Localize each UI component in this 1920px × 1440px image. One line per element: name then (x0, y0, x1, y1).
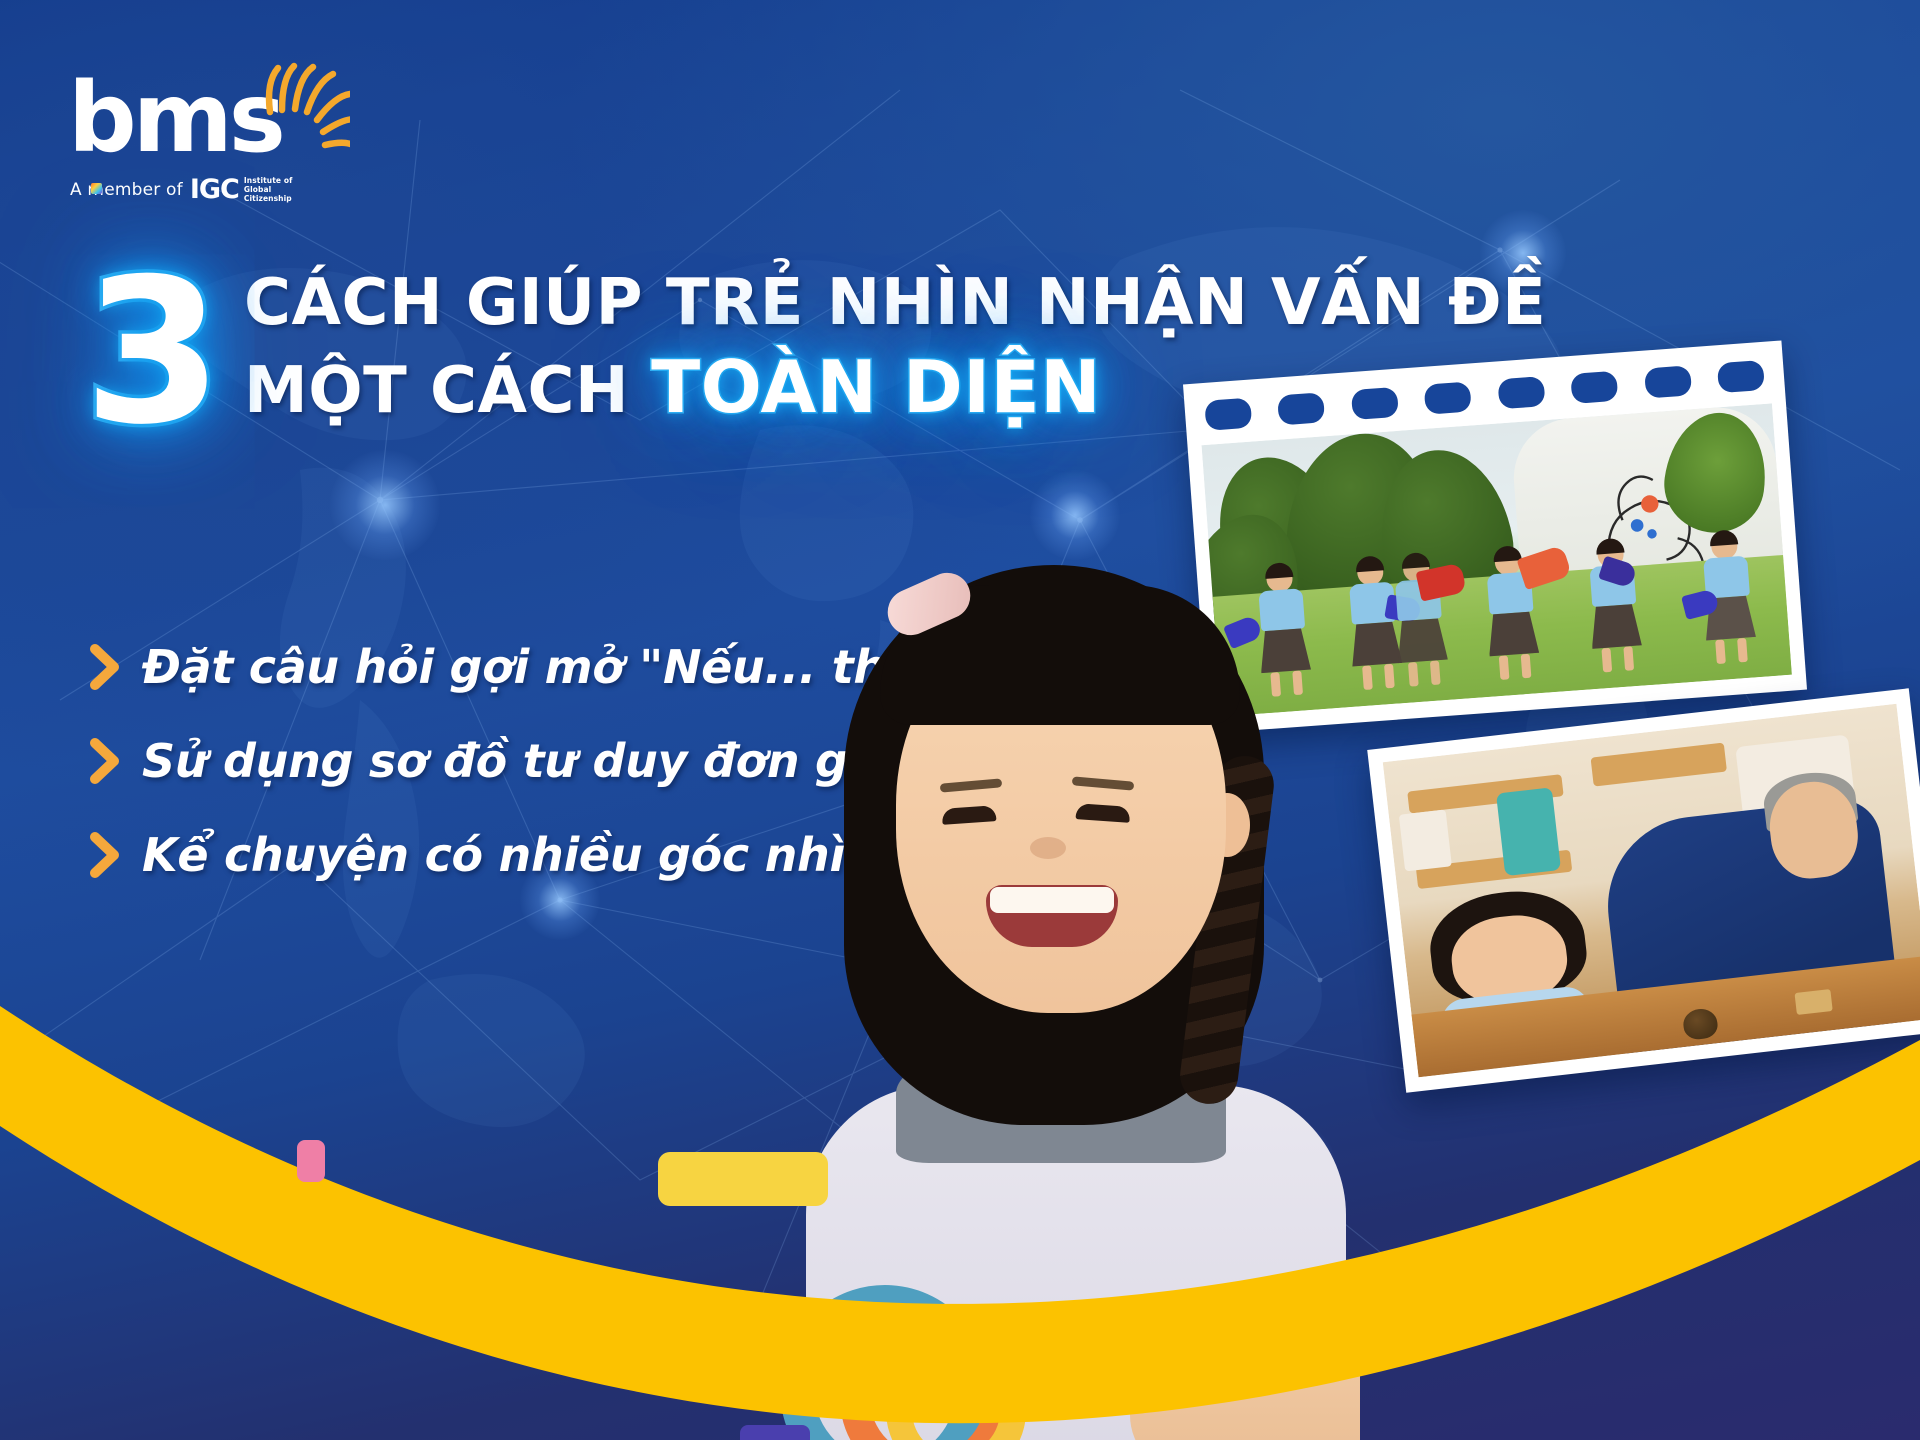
igc-logo: IGC Institute of Global Citizenship (190, 174, 293, 205)
list-item-label: Kể chuyện có nhiều góc nhìn (142, 828, 877, 882)
igc-letters: IGC (190, 174, 239, 205)
headline-block: 3 CÁCH GIÚP TRẺ NHÌN NHẬN VẤN ĐỀ MỘT CÁC… (78, 262, 1378, 428)
toy-block-yellow (658, 1152, 828, 1206)
chevron-right-icon (90, 644, 120, 690)
igc-tagline-line3: Citizenship (244, 194, 292, 203)
sun-burst-icon (240, 60, 350, 170)
yellow-curve-decoration (0, 920, 1920, 1440)
poster-canvas: bms A member of IGC Institute of Global (0, 0, 1920, 1440)
member-of-label: A member of (70, 180, 183, 200)
headline-line-2-highlight: TOÀN DIỆN (651, 350, 1101, 424)
chevron-right-icon (90, 738, 120, 784)
headline-line-1: CÁCH GIÚP TRẺ NHÌN NHẬN VẤN ĐỀ (244, 266, 1546, 340)
logo-partner-line: A member of IGC Institute of Global Citi… (70, 174, 292, 205)
toy-block-pink (297, 1140, 325, 1182)
igc-tagline-line2: Global (244, 185, 271, 194)
headline-line-2-plain: MỘT CÁCH (244, 354, 629, 428)
igc-color-dot-icon (91, 183, 102, 194)
brand-logo[interactable]: bms A member of IGC Institute of Global (68, 62, 368, 212)
chevron-right-icon (90, 832, 120, 878)
igc-tagline-line1: Institute of (244, 176, 293, 185)
headline-number: 3 (78, 278, 228, 428)
glow-node-1 (330, 450, 440, 560)
igc-tagline: Institute of Global Citizenship (244, 176, 293, 204)
